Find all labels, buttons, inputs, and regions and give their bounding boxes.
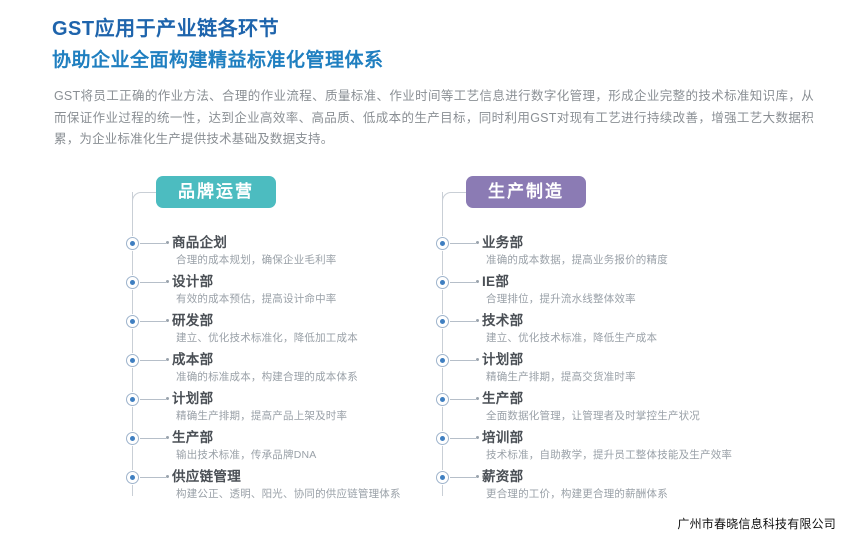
connector-stub xyxy=(140,477,166,478)
item-desc: 有效的成本预估，提高设计命中率 xyxy=(172,291,456,307)
node-dot-icon xyxy=(436,354,449,367)
node-dot-icon xyxy=(126,276,139,289)
bullet-icon xyxy=(476,280,479,283)
bullet-icon xyxy=(166,358,169,361)
bullet-icon xyxy=(476,397,479,400)
node-dot-icon xyxy=(126,237,139,250)
department-list: 业务部 准确的成本数据，提高业务报价的精度 IE部 合理排位，提升流水线整体效率… xyxy=(436,234,766,507)
node-dot-icon xyxy=(126,354,139,367)
item-title: 设计部 xyxy=(172,273,456,290)
department-list: 商品企划 合理的成本规划，确保企业毛利率 设计部 有效的成本预估，提高设计命中率… xyxy=(126,234,456,507)
list-item[interactable]: 计划部 精确生产排期，提高交货准时率 xyxy=(436,351,766,390)
column-header: 品牌运营 xyxy=(126,176,456,218)
item-title: 培训部 xyxy=(482,429,766,446)
connector-stub xyxy=(140,438,166,439)
page-title-primary: GST应用于产业链各环节 xyxy=(52,14,832,44)
list-item[interactable]: 设计部 有效的成本预估，提高设计命中率 xyxy=(126,273,456,312)
connector-stub xyxy=(450,438,476,439)
item-desc: 全面数据化管理，让管理者及时掌控生产状况 xyxy=(482,408,766,424)
node-dot-icon xyxy=(436,432,449,445)
item-desc: 构建公正、透明、阳光、协同的供应链管理体系 xyxy=(172,486,456,502)
list-item[interactable]: 技术部 建立、优化技术标准，降低生产成本 xyxy=(436,312,766,351)
badge-production-manufacturing[interactable]: 生产制造 xyxy=(466,176,586,208)
item-title: 商品企划 xyxy=(172,234,456,251)
bullet-icon xyxy=(166,475,169,478)
page-header: GST应用于产业链各环节 协助企业全面构建精益标准化管理体系 xyxy=(52,14,832,76)
slide-root: GST应用于产业链各环节 协助企业全面构建精益标准化管理体系 GST将员工正确的… xyxy=(0,0,850,542)
list-item[interactable]: IE部 合理排位，提升流水线整体效率 xyxy=(436,273,766,312)
node-dot-icon xyxy=(436,315,449,328)
item-title: 生产部 xyxy=(172,429,456,446)
node-dot-icon xyxy=(126,471,139,484)
item-title: IE部 xyxy=(482,273,766,290)
item-desc: 准确的标准成本，构建合理的成本体系 xyxy=(172,369,456,385)
page-title-secondary: 协助企业全面构建精益标准化管理体系 xyxy=(52,46,832,76)
column-brand-operation: 品牌运营 商品企划 合理的成本规划，确保企业毛利率 设计部 有效的成本预估，提高… xyxy=(126,176,456,507)
column-production-manufacturing: 生产制造 业务部 准确的成本数据，提高业务报价的精度 IE部 合理排位，提升流水… xyxy=(436,176,766,507)
node-dot-icon xyxy=(436,393,449,406)
bullet-icon xyxy=(476,358,479,361)
connector-stub xyxy=(140,243,166,244)
departments-columns: 品牌运营 商品企划 合理的成本规划，确保企业毛利率 设计部 有效的成本预估，提高… xyxy=(0,176,850,516)
list-item[interactable]: 生产部 全面数据化管理，让管理者及时掌控生产状况 xyxy=(436,390,766,429)
item-desc: 更合理的工价，构建更合理的薪酬体系 xyxy=(482,486,766,502)
list-item[interactable]: 研发部 建立、优化技术标准化，降低加工成本 xyxy=(126,312,456,351)
bullet-icon xyxy=(476,475,479,478)
list-item[interactable]: 生产部 输出技术标准，传承品牌DNA xyxy=(126,429,456,468)
item-desc: 建立、优化技术标准化，降低加工成本 xyxy=(172,330,456,346)
connector-stub xyxy=(450,399,476,400)
item-desc: 精确生产排期，提高产品上架及时率 xyxy=(172,408,456,424)
item-desc: 合理的成本规划，确保企业毛利率 xyxy=(172,252,456,268)
item-title: 研发部 xyxy=(172,312,456,329)
item-desc: 建立、优化技术标准，降低生产成本 xyxy=(482,330,766,346)
bullet-icon xyxy=(476,436,479,439)
node-dot-icon xyxy=(126,393,139,406)
item-desc: 输出技术标准，传承品牌DNA xyxy=(172,447,456,463)
item-title: 业务部 xyxy=(482,234,766,251)
connector-stub xyxy=(140,282,166,283)
item-title: 生产部 xyxy=(482,390,766,407)
item-title: 薪资部 xyxy=(482,468,766,485)
list-item[interactable]: 薪资部 更合理的工价，构建更合理的薪酬体系 xyxy=(436,468,766,507)
connector-stub xyxy=(450,321,476,322)
connector-stub xyxy=(140,321,166,322)
bullet-icon xyxy=(476,241,479,244)
badge-brand-operation[interactable]: 品牌运营 xyxy=(156,176,276,208)
bullet-icon xyxy=(166,241,169,244)
item-desc: 精确生产排期，提高交货准时率 xyxy=(482,369,766,385)
bullet-icon xyxy=(476,319,479,322)
bullet-icon xyxy=(166,319,169,322)
item-title: 技术部 xyxy=(482,312,766,329)
connector-stub xyxy=(140,399,166,400)
bullet-icon xyxy=(166,280,169,283)
node-dot-icon xyxy=(126,432,139,445)
bullet-icon xyxy=(166,436,169,439)
connector-stub xyxy=(140,360,166,361)
connector-stub xyxy=(450,282,476,283)
connector-stub xyxy=(450,477,476,478)
item-desc: 合理排位，提升流水线整体效率 xyxy=(482,291,766,307)
item-desc: 准确的成本数据，提高业务报价的精度 xyxy=(482,252,766,268)
node-dot-icon xyxy=(436,237,449,250)
connector-stub xyxy=(450,243,476,244)
item-desc: 技术标准，自助教学，提升员工整体技能及生产效率 xyxy=(482,447,766,463)
list-item[interactable]: 业务部 准确的成本数据，提高业务报价的精度 xyxy=(436,234,766,273)
node-dot-icon xyxy=(436,471,449,484)
item-title: 计划部 xyxy=(482,351,766,368)
item-title: 成本部 xyxy=(172,351,456,368)
column-header: 生产制造 xyxy=(436,176,766,218)
node-dot-icon xyxy=(126,315,139,328)
intro-paragraph: GST将员工正确的作业方法、合理的作业流程、质量标准、作业时间等工艺信息进行数字… xyxy=(54,86,814,151)
item-title: 计划部 xyxy=(172,390,456,407)
list-item[interactable]: 供应链管理 构建公正、透明、阳光、协同的供应链管理体系 xyxy=(126,468,456,507)
item-title: 供应链管理 xyxy=(172,468,456,485)
footer-company-name: 广州市春晓信息科技有限公司 xyxy=(677,515,836,532)
connector-stub xyxy=(450,360,476,361)
bullet-icon xyxy=(166,397,169,400)
list-item[interactable]: 商品企划 合理的成本规划，确保企业毛利率 xyxy=(126,234,456,273)
list-item[interactable]: 培训部 技术标准，自助教学，提升员工整体技能及生产效率 xyxy=(436,429,766,468)
list-item[interactable]: 成本部 准确的标准成本，构建合理的成本体系 xyxy=(126,351,456,390)
node-dot-icon xyxy=(436,276,449,289)
list-item[interactable]: 计划部 精确生产排期，提高产品上架及时率 xyxy=(126,390,456,429)
